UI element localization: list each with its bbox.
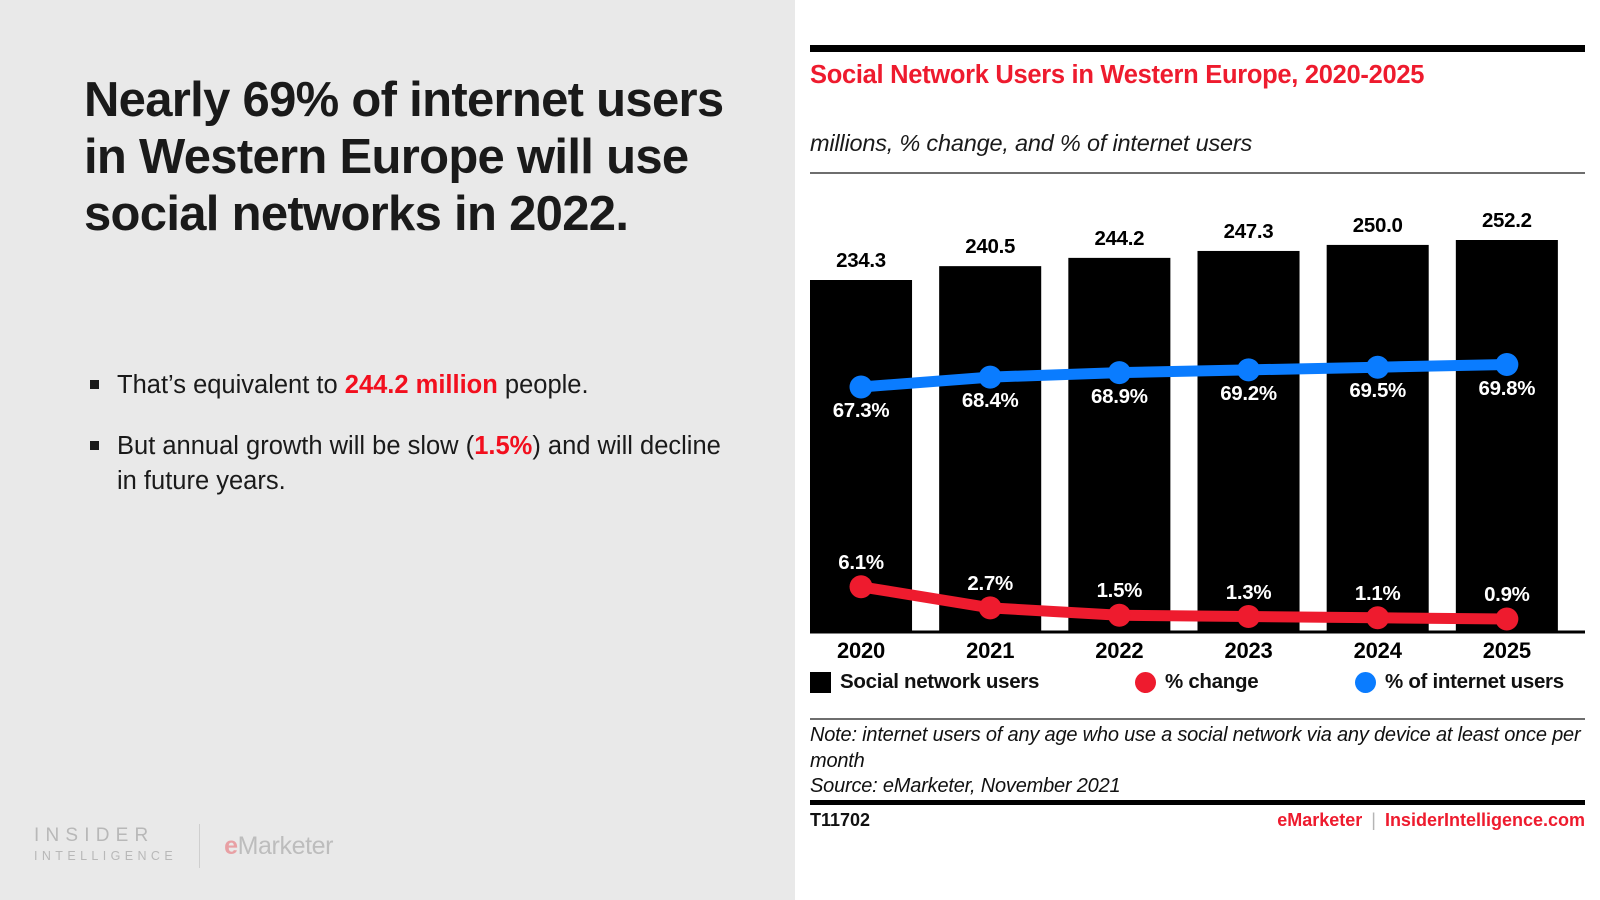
slide-canvas: Nearly 69% of internet users in Western …	[0, 0, 1600, 900]
bar-value-label: 247.3	[1184, 220, 1313, 244]
list-item: That’s equivalent to 244.2 million peopl…	[90, 368, 730, 403]
data-point-marker	[1495, 353, 1518, 376]
logo-line-insider: INSIDER	[34, 826, 154, 847]
bullet-square-icon	[90, 380, 99, 389]
footer-emarketer-label: eMarketer	[1277, 810, 1362, 831]
data-point-marker	[1108, 361, 1131, 384]
x-axis-label: 2020	[796, 638, 925, 664]
chart-panel: Social Network Users in Western Europe, …	[795, 0, 1600, 900]
percent-change-label: 1.5%	[1055, 579, 1184, 603]
x-axis-label: 2024	[1313, 638, 1442, 664]
x-axis-label: 2021	[926, 638, 1055, 664]
data-point-marker	[850, 376, 873, 399]
bullet-text-post: people.	[498, 371, 589, 399]
brand-logo: INSIDER INTELLIGENCE eMarketer	[34, 824, 333, 868]
percent-change-label: 2.7%	[926, 572, 1055, 596]
data-point-marker	[979, 596, 1002, 619]
chart-title: Social Network Users in Western Europe, …	[810, 60, 1450, 90]
list-item: But annual growth will be slow (1.5%) an…	[90, 429, 730, 499]
legend-dot-icon	[1355, 672, 1376, 693]
chart-plot-area: 234.3240.5244.2247.3250.0252.267.3%68.4%…	[810, 182, 1585, 637]
insider-intelligence-wordmark: INSIDER INTELLIGENCE	[34, 826, 177, 866]
footer-separator: |	[1371, 810, 1376, 831]
emarketer-rest: Marketer	[238, 832, 333, 860]
percent-change-label: 1.1%	[1313, 582, 1442, 606]
legend-item[interactable]: Social network users	[810, 670, 1039, 694]
legend-square-icon	[810, 672, 831, 693]
top-rule	[810, 45, 1585, 52]
chart-legend: Social network users% change% of interne…	[810, 668, 1585, 704]
bullet-highlight: 1.5%	[474, 432, 532, 460]
x-axis-label: 2022	[1055, 638, 1184, 664]
bar-value-label: 234.3	[796, 249, 925, 273]
legend-item[interactable]: % change	[1135, 670, 1258, 694]
percent-change-label: 6.1%	[796, 551, 925, 575]
data-point-marker	[979, 366, 1002, 389]
bar	[1068, 258, 1170, 632]
percent-of-internet-users-label: 69.2%	[1184, 382, 1313, 406]
notes-rule	[810, 718, 1585, 720]
bullet-text-pre: But annual growth will be slow (	[117, 432, 474, 460]
legend-dot-icon	[1135, 672, 1156, 693]
bar	[1456, 240, 1558, 632]
bar	[1198, 251, 1300, 632]
footer-website-link[interactable]: InsiderIntelligence.com	[1385, 810, 1585, 831]
page-title: Nearly 69% of internet users in Western …	[84, 72, 734, 242]
data-point-marker	[1237, 605, 1260, 628]
percent-of-internet-users-label: 69.8%	[1442, 377, 1571, 401]
legend-item[interactable]: % of internet users	[1355, 670, 1564, 694]
data-point-marker	[850, 575, 873, 598]
footer-brand: eMarketer | InsiderIntelligence.com	[1277, 810, 1585, 831]
percent-of-internet-users-label: 68.4%	[926, 389, 1055, 413]
bullet-text-pre: That’s equivalent to	[117, 371, 345, 399]
chart-notes: Note: internet users of any age who use …	[810, 723, 1585, 800]
bar	[1327, 245, 1429, 632]
percent-change-label: 0.9%	[1442, 583, 1571, 607]
bullet-square-icon	[90, 441, 99, 450]
bullet-highlight: 244.2 million	[345, 371, 498, 399]
data-point-marker	[1237, 358, 1260, 381]
logo-divider	[199, 824, 200, 868]
legend-label: Social network users	[840, 670, 1039, 694]
percent-of-internet-users-label: 68.9%	[1055, 385, 1184, 409]
percent-of-internet-users-label: 69.5%	[1313, 379, 1442, 403]
percent-of-internet-users-label: 67.3%	[796, 399, 925, 423]
data-point-marker	[1495, 608, 1518, 631]
bullet-text: But annual growth will be slow (1.5%) an…	[117, 429, 730, 499]
bar-value-label: 240.5	[926, 235, 1055, 259]
chart-id: T11702	[810, 810, 870, 831]
source-text: Source: eMarketer, November 2021	[810, 774, 1585, 800]
bullet-text: That’s equivalent to 244.2 million peopl…	[117, 368, 730, 403]
percent-change-label: 1.3%	[1184, 581, 1313, 605]
x-axis-label: 2023	[1184, 638, 1313, 664]
x-axis-label: 2025	[1442, 638, 1571, 664]
bullet-list: That’s equivalent to 244.2 million peopl…	[90, 368, 730, 526]
chart-subtitle: millions, % change, and % of internet us…	[810, 130, 1570, 157]
chart-footer: T11702 eMarketer | InsiderIntelligence.c…	[810, 810, 1585, 836]
left-panel: Nearly 69% of internet users in Western …	[0, 0, 795, 900]
legend-label: % of internet users	[1385, 670, 1564, 694]
legend-label: % change	[1165, 670, 1258, 694]
data-point-marker	[1366, 606, 1389, 629]
note-text: Note: internet users of any age who use …	[810, 723, 1585, 774]
emarketer-e: e	[224, 832, 238, 860]
logo-line-intelligence: INTELLIGENCE	[34, 847, 177, 866]
bar-value-label: 250.0	[1313, 214, 1442, 238]
subtitle-rule	[810, 172, 1585, 174]
data-point-marker	[1108, 604, 1131, 627]
emarketer-wordmark: eMarketer	[224, 832, 333, 861]
footer-rule	[810, 800, 1585, 805]
data-point-marker	[1366, 356, 1389, 379]
bar-value-label: 244.2	[1055, 227, 1184, 251]
bar-value-label: 252.2	[1442, 209, 1571, 233]
